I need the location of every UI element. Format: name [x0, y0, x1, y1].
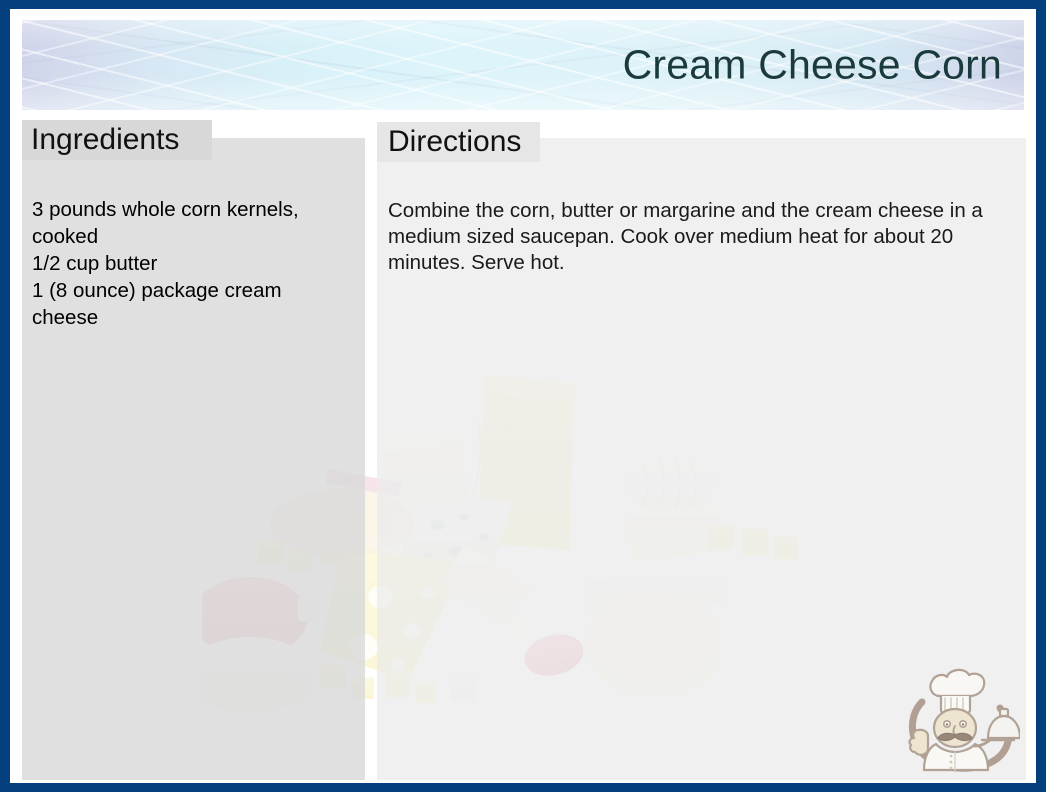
frame-border-right — [1036, 0, 1046, 792]
directions-section-tab: Directions — [377, 122, 540, 162]
ingredients-section-tab: Ingredients — [22, 120, 212, 160]
page-surface: Cream Cheese Corn — [10, 9, 1036, 783]
ingredients-heading: Ingredients — [31, 125, 179, 155]
ingredient-item: 1/2 cup butter — [32, 250, 348, 277]
frame-border-top — [0, 0, 1046, 9]
directions-text: Combine the corn, butter or margarine an… — [388, 198, 1018, 276]
directions-heading: Directions — [388, 127, 521, 157]
ingredient-item: 3 pounds whole corn kernels, cooked — [32, 196, 348, 250]
frame-border-bottom — [0, 783, 1046, 792]
ingredient-item: 1 (8 ounce) package cream cheese — [32, 277, 348, 331]
page-title: Cream Cheese Corn — [623, 45, 1002, 86]
frame-border-left — [0, 0, 10, 792]
title-banner: Cream Cheese Corn — [22, 20, 1024, 110]
ingredients-list: 3 pounds whole corn kernels, cooked 1/2 … — [32, 196, 348, 331]
content-area: Ingredients Directions 3 pounds whole co… — [22, 120, 1028, 780]
recipe-card: Cream Cheese Corn — [0, 0, 1046, 792]
